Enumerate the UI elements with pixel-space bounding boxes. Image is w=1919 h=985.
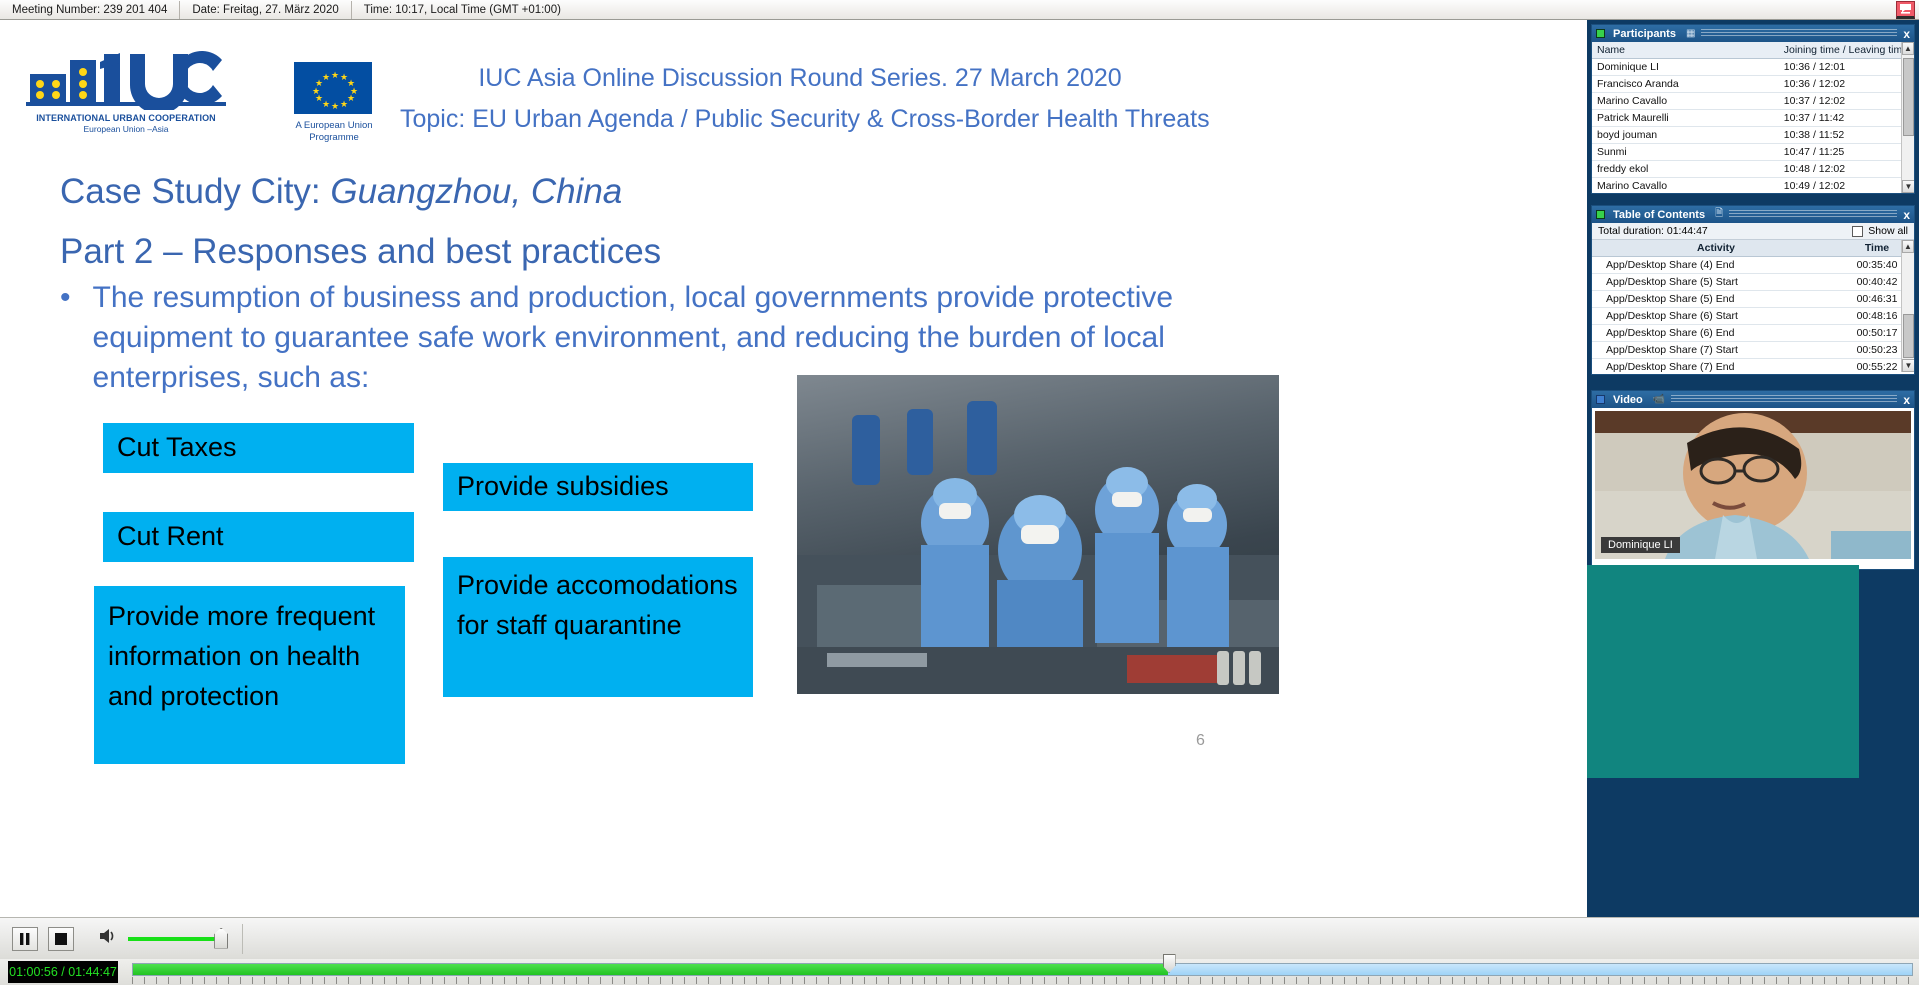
table-row[interactable]: Dominique LI10:36 / 12:01 (1592, 59, 1914, 76)
table-header-row: Name Joining time / Leaving time (1592, 42, 1914, 59)
meeting-date: Date: Freitag, 27. März 2020 (180, 0, 350, 20)
seek-tick-marks (132, 977, 1913, 984)
column-header-activity: Activity (1592, 240, 1840, 257)
seek-bar[interactable] (132, 960, 1913, 984)
show-all-label: Show all (1868, 225, 1908, 237)
close-icon[interactable]: x (1903, 27, 1910, 41)
toc-scrollbar[interactable]: ▲ ▼ (1901, 240, 1914, 372)
camera-icon[interactable]: 📹 (1653, 394, 1665, 405)
slide-subtitle: Part 2 – Responses and best practices (60, 232, 661, 272)
callout-box-cut-rent: Cut Rent (103, 512, 414, 562)
close-icon[interactable]: x (1903, 393, 1910, 407)
meeting-number: Meeting Number: 239 201 404 (0, 0, 179, 20)
participants-grid-icon[interactable]: ▦ (1686, 28, 1695, 39)
toc-activity: App/Desktop Share (5) End (1592, 291, 1840, 308)
table-row[interactable]: App/Desktop Share (7) Start00:50:23 (1592, 342, 1914, 359)
participant-name: boyd jouman (1592, 127, 1779, 144)
drag-grip[interactable] (1701, 29, 1897, 38)
show-all-control[interactable]: Show all (1852, 225, 1908, 237)
scrollbar-thumb[interactable] (1903, 58, 1914, 136)
table-row[interactable]: App/Desktop Share (6) Start00:48:16 (1592, 308, 1914, 325)
teal-placeholder-area (1587, 565, 1859, 778)
scroll-up-icon[interactable]: ▲ (1902, 240, 1914, 253)
iuc-logo: INTERNATIONAL URBAN COOPERATION European… (26, 48, 226, 134)
toc-activity: App/Desktop Share (5) Start (1592, 274, 1840, 291)
table-row[interactable]: freddy ekol10:48 / 12:02 (1592, 161, 1914, 178)
table-header-row: Activity Time (1592, 240, 1914, 257)
table-row[interactable]: Marino Cavallo10:49 / 12:02 (1592, 178, 1914, 194)
participant-time: 10:37 / 11:42 (1779, 110, 1914, 127)
participant-name: Francisco Aranda (1592, 76, 1779, 93)
participant-name: Marino Cavallo (1592, 93, 1779, 110)
playback-timecode: 01:00:56 / 01:44:47 (8, 961, 118, 983)
side-panel-column: Participants ▦ x Name Joining time / Lea… (1587, 20, 1919, 917)
participants-table: Name Joining time / Leaving time Dominiq… (1592, 42, 1914, 193)
table-row[interactable]: App/Desktop Share (5) End00:46:31 (1592, 291, 1914, 308)
divider (242, 924, 243, 954)
participant-name: Dominique LI (1592, 59, 1779, 76)
close-icon[interactable]: x (1903, 208, 1910, 222)
show-all-checkbox[interactable] (1852, 226, 1863, 237)
toc-activity: App/Desktop Share (4) End (1592, 257, 1840, 274)
video-panel-titlebar[interactable]: Video 📹 x (1592, 391, 1914, 408)
column-header-time: Joining time / Leaving time (1779, 42, 1914, 59)
participants-panel: Participants ▦ x Name Joining time / Lea… (1591, 24, 1915, 194)
table-row[interactable]: App/Desktop Share (4) End00:35:40 (1592, 257, 1914, 274)
playback-control-bar (0, 917, 1919, 959)
bullet-marker: • (60, 278, 71, 398)
callout-box-provide-more-info: Provide more frequent information on hea… (94, 586, 405, 764)
stop-button[interactable] (48, 927, 74, 951)
toc-summary-bar: Total duration: 01:44:47 Show all (1592, 223, 1914, 240)
meeting-info-bar: Meeting Number: 239 201 404 Date: Freita… (0, 0, 1919, 20)
seek-bar-row: 01:00:56 / 01:44:47 (0, 959, 1919, 985)
participant-time: 10:37 / 12:02 (1779, 93, 1914, 110)
participant-time: 10:47 / 11:25 (1779, 144, 1914, 161)
iuc-logo-mark (26, 48, 226, 110)
volume-slider-knob[interactable] (214, 928, 228, 949)
scroll-down-icon[interactable]: ▼ (1902, 359, 1914, 372)
chat-bubble-icon[interactable] (1896, 1, 1915, 19)
status-indicator-icon (1596, 29, 1605, 38)
participant-name: freddy ekol (1592, 161, 1779, 178)
callout-box-provide-subsidies: Provide subsidies (443, 463, 753, 511)
iuc-logo-caption-1: INTERNATIONAL URBAN COOPERATION (26, 113, 226, 123)
table-row[interactable]: App/Desktop Share (7) End00:55:22 (1592, 359, 1914, 373)
column-header-name: Name (1592, 42, 1779, 59)
toc-activity: App/Desktop Share (6) Start (1592, 308, 1840, 325)
participant-name: Marino Cavallo (1592, 178, 1779, 194)
seek-progress-fill (133, 964, 1168, 975)
participant-time: 10:36 / 12:01 (1779, 59, 1914, 76)
toc-activity: App/Desktop Share (7) Start (1592, 342, 1840, 359)
presentation-slide: INTERNATIONAL URBAN COOPERATION European… (0, 20, 1587, 917)
participants-scrollbar[interactable]: ▲ ▼ (1901, 42, 1914, 193)
video-feed[interactable]: Dominique LI (1595, 411, 1911, 559)
video-panel: Video 📹 x Dominique LI (1591, 390, 1915, 570)
seek-track[interactable] (132, 963, 1913, 976)
participants-panel-title: Participants (1613, 28, 1676, 40)
table-row[interactable]: App/Desktop Share (5) Start00:40:42 (1592, 274, 1914, 291)
table-row[interactable]: Patrick Maurelli10:37 / 11:42 (1592, 110, 1914, 127)
speaker-icon[interactable] (98, 927, 118, 950)
toc-table: Activity Time App/Desktop Share (4) End0… (1592, 240, 1914, 372)
slide-header-line-1: IUC Asia Online Discussion Round Series.… (420, 64, 1180, 93)
pause-button[interactable] (12, 927, 38, 951)
iuc-logo-caption-2: European Union –Asia (26, 124, 226, 134)
participant-time: 10:36 / 12:02 (1779, 76, 1914, 93)
participants-list: Name Joining time / Leaving time Dominiq… (1592, 42, 1914, 193)
scroll-up-icon[interactable]: ▲ (1902, 42, 1914, 55)
callout-box-provide-accomodations: Provide accomodations for staff quaranti… (443, 557, 753, 697)
eu-logo: ★ ★ ★ ★ ★ ★ ★ ★ ★ ★ ★ ★ A European Union… (294, 62, 374, 144)
meeting-time: Time: 10:17, Local Time (GMT +01:00) (352, 0, 573, 20)
eu-logo-caption: A European Union Programme (294, 120, 374, 144)
toc-activity: App/Desktop Share (6) End (1592, 325, 1840, 342)
toc-panel-title: Table of Contents (1613, 209, 1705, 221)
video-speaker-name: Dominique LI (1601, 537, 1680, 553)
status-indicator-icon (1596, 395, 1605, 404)
table-row[interactable]: Marino Cavallo10:37 / 12:02 (1592, 93, 1914, 110)
video-panel-title: Video (1613, 394, 1643, 406)
drag-grip[interactable] (1729, 210, 1897, 219)
participant-time: 10:49 / 12:02 (1779, 178, 1914, 194)
document-icon[interactable]: 🗎 (1715, 206, 1723, 223)
table-row[interactable]: boyd jouman10:38 / 11:52 (1592, 127, 1914, 144)
participants-panel-titlebar[interactable]: Participants ▦ x (1592, 25, 1914, 42)
volume-slider[interactable] (128, 937, 226, 941)
slide-page-number: 6 (1196, 732, 1205, 750)
toc-total-duration: Total duration: 01:44:47 (1598, 225, 1708, 237)
title-prefix: Case Study City: (60, 172, 330, 211)
table-row[interactable]: Francisco Aranda10:36 / 12:02 (1592, 76, 1914, 93)
participant-time: 10:38 / 11:52 (1779, 127, 1914, 144)
status-indicator-icon (1596, 210, 1605, 219)
participant-name: Sunmi (1592, 144, 1779, 161)
toc-list: Activity Time App/Desktop Share (4) End0… (1592, 240, 1914, 372)
factory-photo (797, 375, 1279, 694)
scroll-down-icon[interactable]: ▼ (1902, 180, 1914, 193)
title-city: Guangzhou, China (330, 172, 622, 211)
table-row[interactable]: App/Desktop Share (6) End00:50:17 (1592, 325, 1914, 342)
toc-activity: App/Desktop Share (7) End (1592, 359, 1840, 373)
slide-header-line-2: Topic: EU Urban Agenda / Public Security… (400, 105, 1200, 134)
page-title: Case Study City: Guangzhou, China (60, 172, 622, 212)
table-row[interactable]: Sunmi10:47 / 11:25 (1592, 144, 1914, 161)
participant-name: Patrick Maurelli (1592, 110, 1779, 127)
table-of-contents-panel: Table of Contents 🗎 x Total duration: 01… (1591, 205, 1915, 375)
drag-grip[interactable] (1671, 395, 1897, 404)
participant-time: 10:48 / 12:02 (1779, 161, 1914, 178)
toc-panel-titlebar[interactable]: Table of Contents 🗎 x (1592, 206, 1914, 223)
callout-box-cut-taxes: Cut Taxes (103, 423, 414, 473)
scrollbar-thumb[interactable] (1903, 314, 1914, 358)
eu-flag-icon: ★ ★ ★ ★ ★ ★ ★ ★ ★ ★ ★ ★ (294, 62, 372, 114)
